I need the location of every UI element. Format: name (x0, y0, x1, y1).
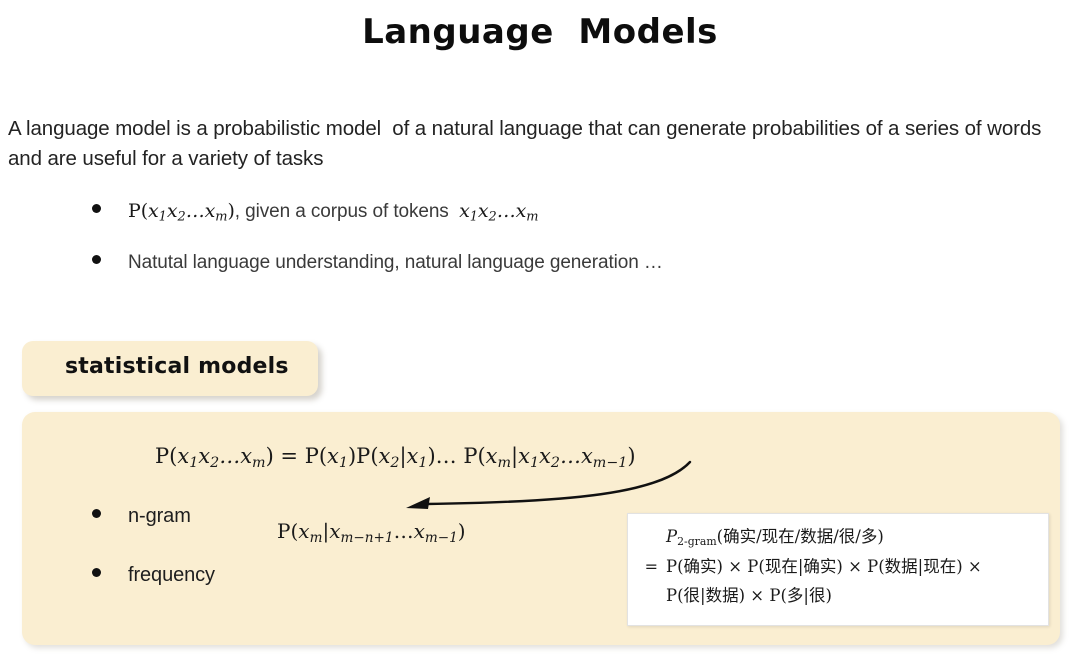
bullet-dot-icon (92, 509, 101, 518)
bigram-subscript: 2-gram (677, 535, 717, 548)
list-item: Natutal language understanding, natural … (92, 252, 1032, 278)
bigram-line-3: P(很|数据) × P(多|很) (666, 582, 1048, 606)
bullet-dot-icon (92, 568, 101, 577)
statistical-models-label: statistical models (65, 354, 289, 379)
formula-token-corpus: x1x2…xm (459, 200, 538, 222)
bigram-line-1: P2-gram(确实/现在/数据/很/多) (666, 523, 1048, 548)
intro-paragraph: A language model is a probabilistic mode… (8, 114, 1076, 174)
list-item: P(x1x2…xm), given a corpus of tokens x1x… (92, 200, 1032, 226)
formula-token-probability: P(x1x2…xm) (128, 200, 235, 222)
bigram-line-1-rest: (确实/现在/数据/很/多) (717, 527, 884, 546)
bullet-probability-text: P(x1x2…xm), given a corpus of tokens x1x… (128, 200, 539, 225)
bullet-dot-icon (92, 255, 101, 264)
statistical-models-tag: statistical models (22, 341, 318, 396)
bigram-line-2: P(确实) × P(现在|确实) × P(数据|现在) × (666, 553, 1048, 577)
page-title: Language Models (0, 12, 1080, 52)
bullet-probability-label: , given a corpus of tokens (235, 201, 459, 222)
bigram-p-symbol: P (666, 527, 677, 546)
bigram-equals-sign: = (628, 557, 666, 576)
bigram-example-grid: P2-gram(确实/现在/数据/很/多) = P(确实) × P(现在|确实)… (628, 523, 1048, 606)
bigram-example-box: P2-gram(确实/现在/数据/很/多) = P(确实) × P(现在|确实)… (627, 513, 1049, 626)
bullet-frequency-label: frequency (128, 564, 215, 587)
formula-ngram-conditional: P(xm|xm−n+1…xm−1) (277, 519, 466, 546)
top-bullet-list: P(x1x2…xm), given a corpus of tokens x1x… (92, 200, 1032, 304)
bullet-ngram-label: n-gram (128, 505, 191, 528)
bullet-dot-icon (92, 204, 101, 213)
list-item: frequency (92, 564, 452, 590)
bullet-nlu-nlg-label: Natutal language understanding, natural … (128, 252, 663, 274)
